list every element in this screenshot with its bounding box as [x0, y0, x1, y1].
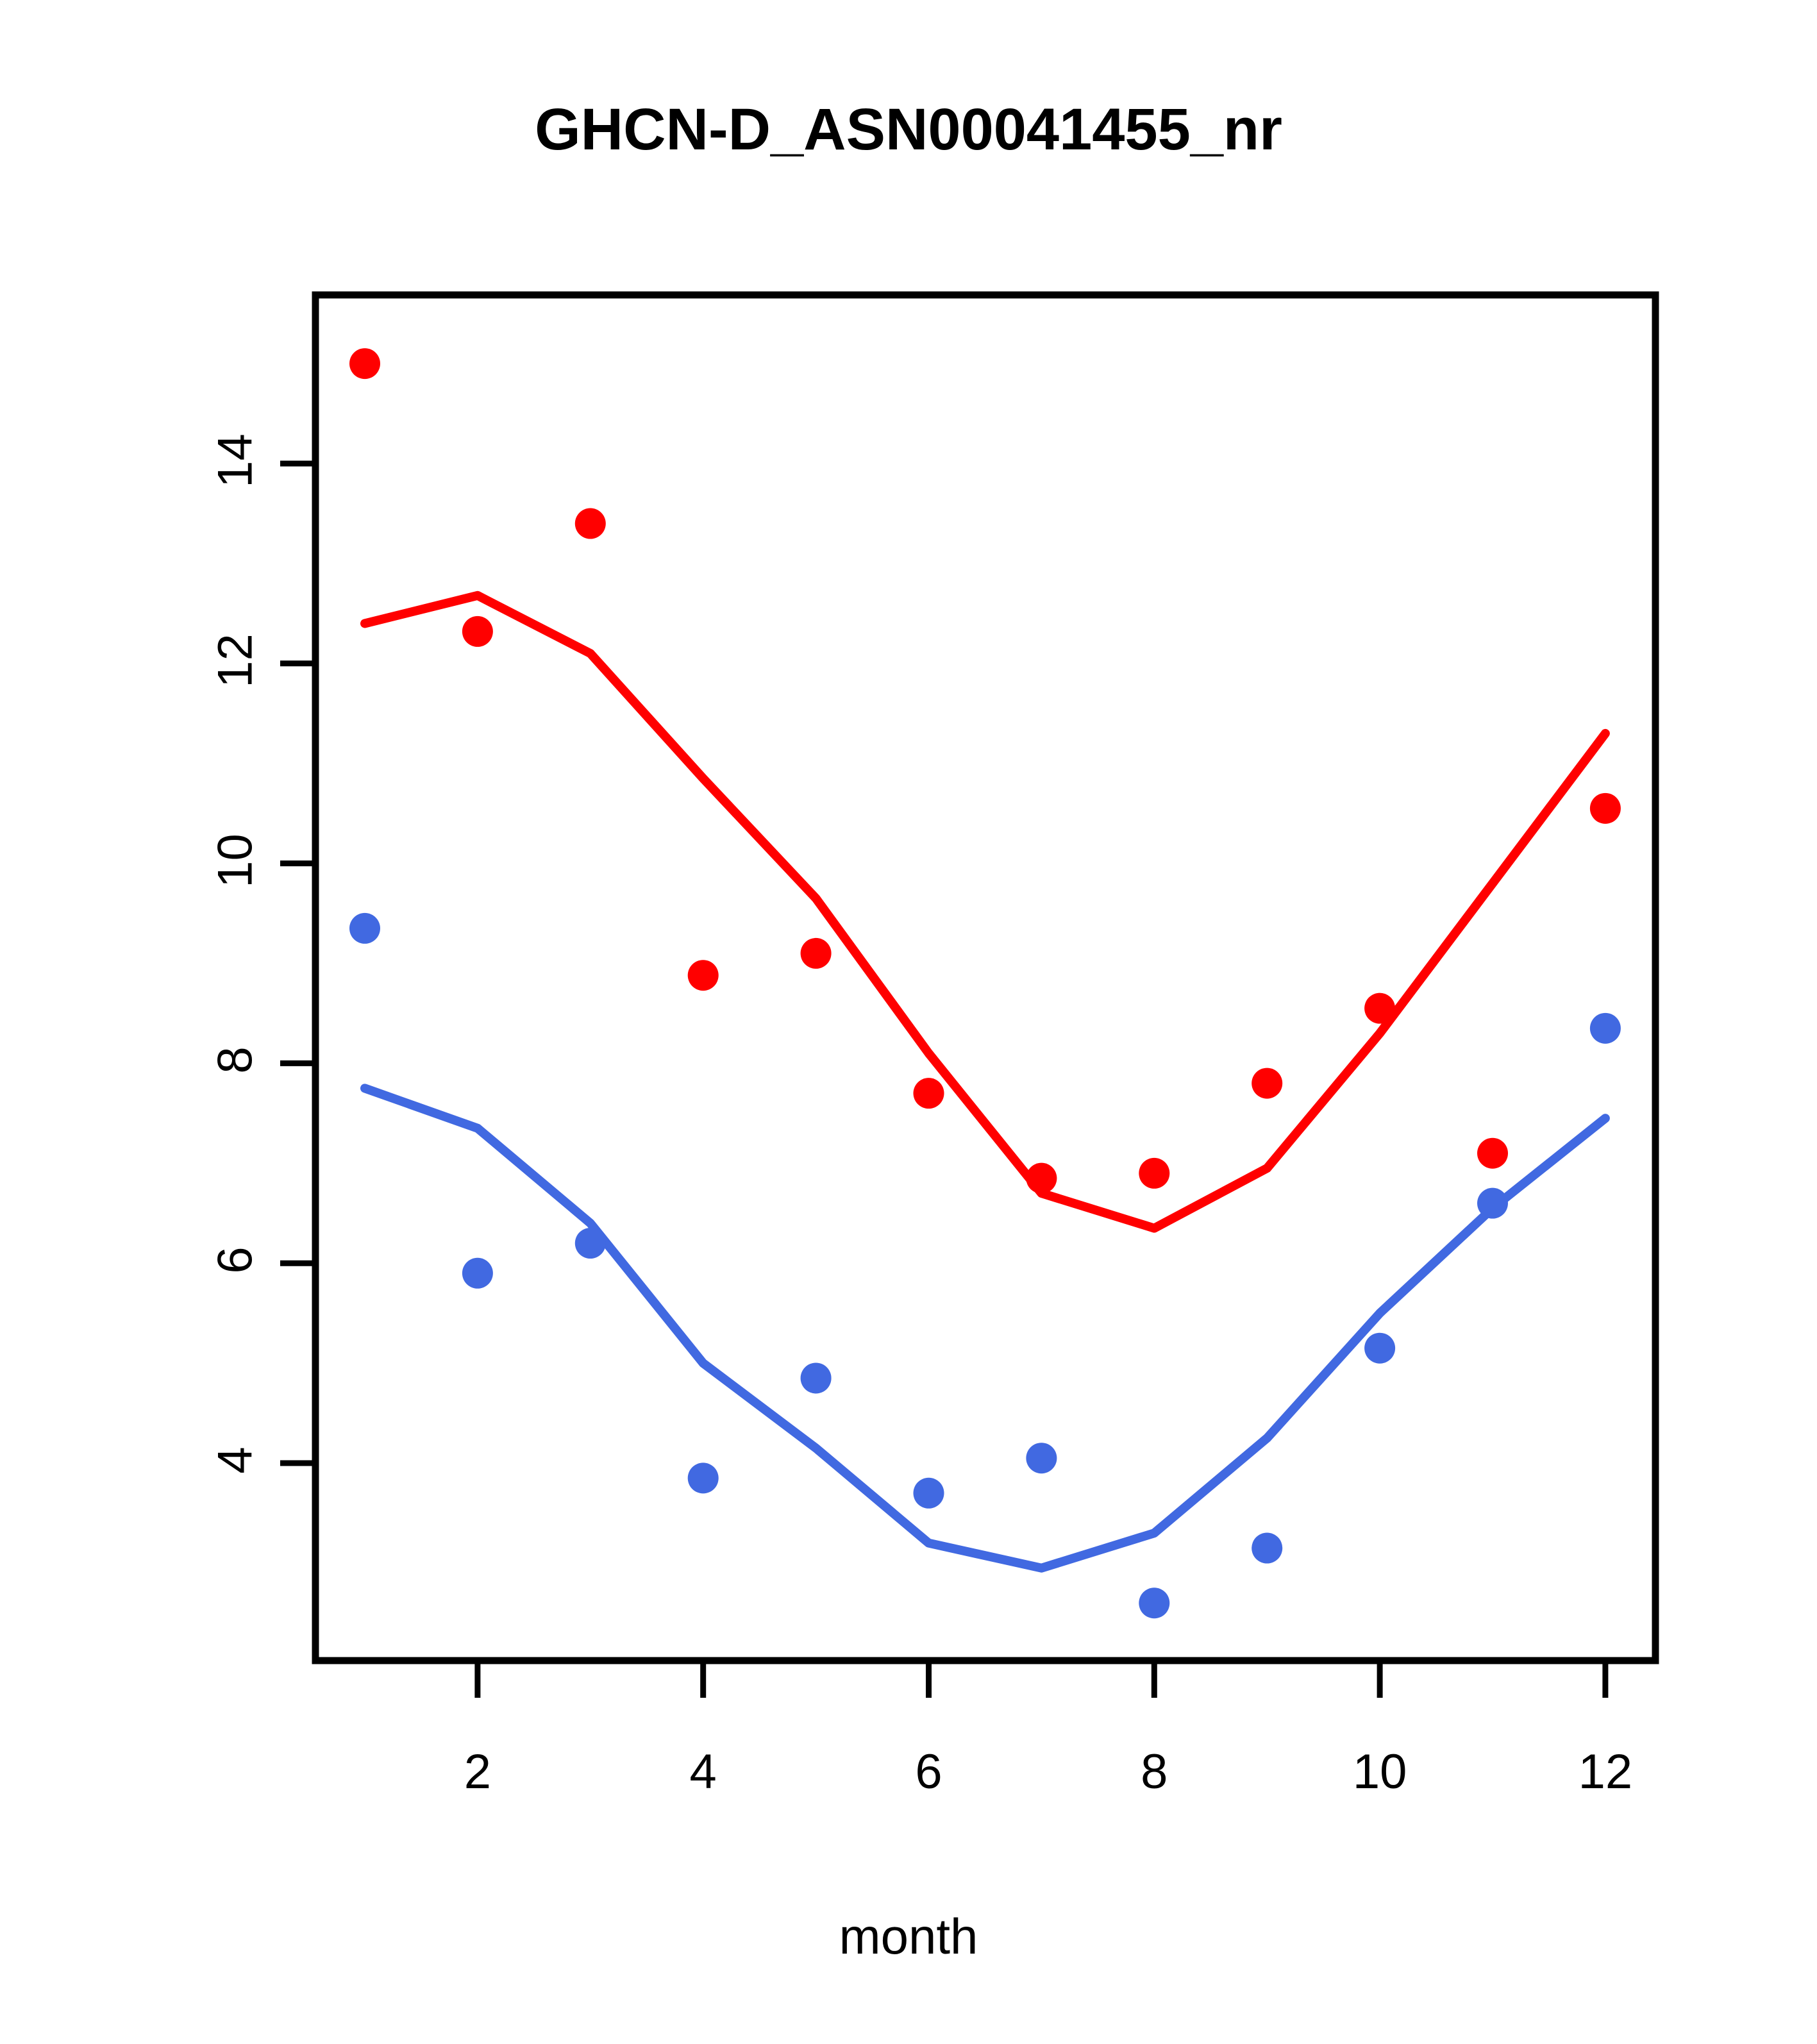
x-axis-label: month: [0, 1907, 1817, 1966]
data-point: [801, 1362, 832, 1393]
data-point: [1477, 1138, 1508, 1169]
data-point: [462, 616, 493, 647]
plot-canvas: [0, 0, 1817, 2044]
data-point: [1364, 1333, 1395, 1364]
data-point: [914, 1478, 944, 1509]
data-point: [575, 508, 606, 539]
y-axis-ticks: [280, 464, 315, 1463]
data-point: [801, 938, 832, 969]
data-point: [462, 1258, 493, 1289]
data-point: [1477, 1188, 1508, 1219]
data-point: [1590, 793, 1621, 824]
y-tick-label: 6: [208, 1216, 264, 1305]
y-tick-label: 14: [208, 416, 264, 506]
data-point: [575, 1228, 606, 1259]
x-tick-label: 2: [414, 1744, 542, 1800]
y-tick-label: 4: [208, 1416, 264, 1505]
chart-svg: [0, 0, 1817, 2044]
x-axis-ticks: [478, 1661, 1605, 1698]
data-point: [1139, 1587, 1169, 1618]
data-point: [1252, 1533, 1282, 1564]
series-points: [349, 348, 1621, 1618]
x-tick-label: 12: [1541, 1744, 1670, 1800]
y-tick-label: 10: [208, 816, 264, 905]
data-point: [349, 913, 380, 944]
x-tick-label: 10: [1316, 1744, 1444, 1800]
y-tick-label: 8: [208, 1016, 264, 1105]
data-point: [1026, 1163, 1057, 1194]
x-tick-label: 8: [1090, 1744, 1218, 1800]
series-line-red-line: [365, 596, 1605, 1228]
data-point: [349, 348, 380, 379]
data-point: [1026, 1443, 1057, 1473]
data-point: [914, 1078, 944, 1109]
series-lines: [365, 596, 1605, 1568]
data-point: [1139, 1158, 1169, 1189]
y-tick-label: 12: [208, 616, 264, 705]
plot-border: [315, 295, 1655, 1661]
data-point: [1252, 1068, 1282, 1099]
data-point: [688, 1462, 719, 1493]
chart-page: GHCN-D_ASN00041455_nr 468101214 24681012…: [0, 0, 1817, 2044]
data-point: [1590, 1013, 1621, 1044]
data-point: [1364, 993, 1395, 1024]
data-point: [688, 960, 719, 991]
x-tick-label: 4: [639, 1744, 767, 1800]
series-line-blue-line: [365, 1088, 1605, 1568]
x-tick-label: 6: [865, 1744, 993, 1800]
